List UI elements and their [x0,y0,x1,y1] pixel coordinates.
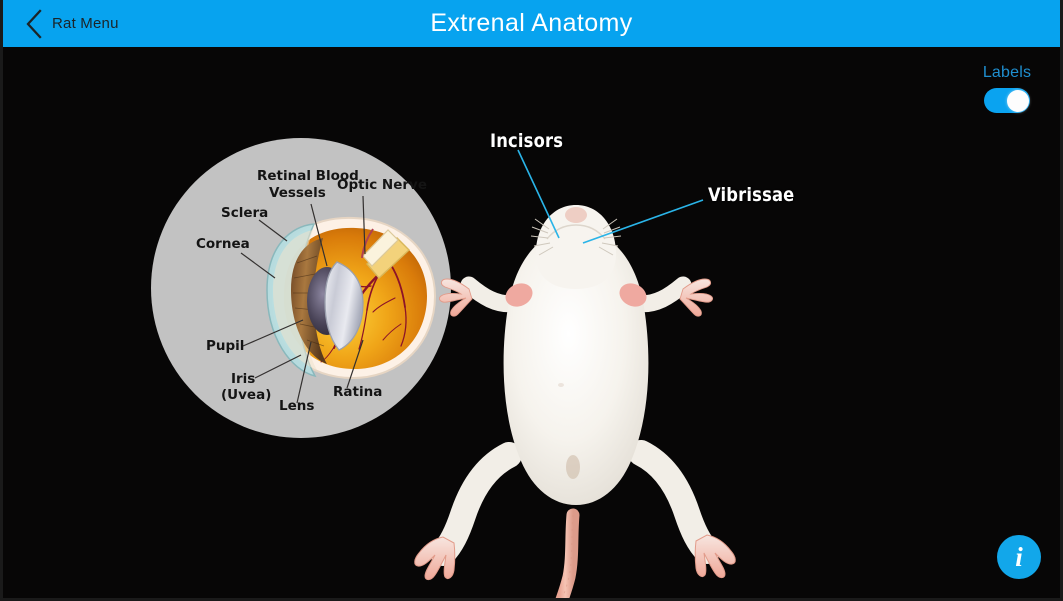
eye-label-ratina: Ratina [333,384,382,400]
eye-anatomy-diagram[interactable]: Retinal Blood Vessels Optic Nerve Sclera… [151,138,451,438]
eye-diagram-svg: Retinal Blood Vessels Optic Nerve Sclera… [151,138,451,438]
rat-specimen-image[interactable] [413,185,743,601]
rat-figure-svg [413,185,743,601]
eye-label-iris: Iris [231,371,255,387]
eye-cross-section [267,218,435,378]
page-title: Extrenal Anatomy [3,0,1060,47]
labels-control: Labels [974,64,1040,113]
app-root: Rat Menu Extrenal Anatomy [0,0,1063,601]
labels-toggle-knob [1007,90,1029,112]
eye-label-sclera: Sclera [221,205,268,221]
chevron-left-icon [25,9,43,39]
back-button-label: Rat Menu [52,15,119,32]
eye-label-uvea: (Uvea) [221,387,271,403]
callout-label-vibrissae[interactable]: Vibrissae [708,184,794,206]
info-icon: i [997,535,1041,579]
app-header: Rat Menu Extrenal Anatomy [3,0,1060,47]
callout-label-incisors[interactable]: Incisors [490,130,563,152]
back-button[interactable]: Rat Menu [17,0,127,47]
eye-label-pupil: Pupil [206,338,244,354]
rat-umbilicus [566,455,580,479]
labels-toggle[interactable] [984,88,1030,113]
labels-caption: Labels [983,64,1031,82]
rat-nipple-marking [558,383,564,387]
info-button[interactable]: i [997,535,1041,579]
rat-nose [565,207,587,223]
eye-label-vessels: Vessels [269,185,326,201]
eye-label-cornea: Cornea [196,236,250,252]
eye-label-lens: Lens [279,398,314,414]
